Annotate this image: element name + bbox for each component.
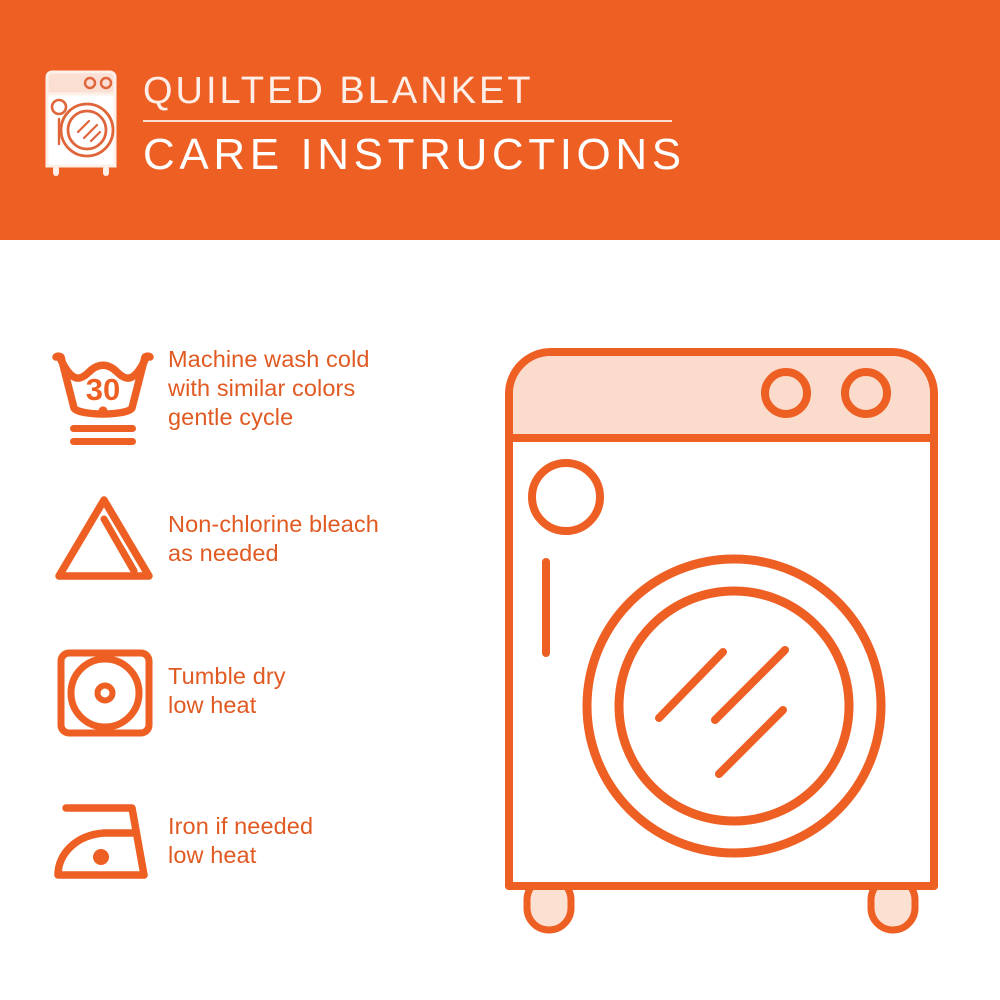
care-item-iron: Iron if needed low heat [48,792,478,892]
care-line: gentle cycle [168,403,370,432]
care-item-tumble-dry: Tumble dry low heat [48,640,478,744]
page-title-primary: QUILTED BLANKET [143,68,703,114]
care-line: Machine wash cold [168,345,370,374]
care-item-machine-wash: 30 Machine wash cold with similar colors… [48,345,478,453]
care-line: Non-chlorine bleach [168,510,379,539]
care-item-bleach: Non-chlorine bleach as needed [48,488,478,588]
care-item-text-tumble-dry: Tumble dry low heat [168,640,286,720]
tumble-dry-low-heat-icon [48,640,168,744]
care-instructions-page: QUILTED BLANKET CARE INSTRUCTIONS 30 [0,0,1000,1000]
header-banner: QUILTED BLANKET CARE INSTRUCTIONS [0,0,1000,240]
care-item-text-iron: Iron if needed low heat [168,792,313,870]
svg-text:30: 30 [86,372,120,407]
washing-machine-icon [44,66,118,178]
care-line: as needed [168,539,379,568]
title-divider [143,120,672,122]
care-instruction-list: 30 Machine wash cold with similar colors… [0,240,500,1000]
care-line: with similar colors [168,374,370,403]
care-item-text-machine-wash: Machine wash cold with similar colors ge… [168,345,370,432]
page-title-secondary: CARE INSTRUCTIONS [143,129,703,181]
care-line: Tumble dry [168,662,286,691]
care-line: low heat [168,691,286,720]
front-load-washing-machine-illustration [487,330,957,940]
title-block: QUILTED BLANKET CARE INSTRUCTIONS [143,68,703,181]
iron-low-heat-icon [48,792,168,892]
care-line: low heat [168,841,313,870]
care-item-text-bleach: Non-chlorine bleach as needed [168,488,379,568]
non-chlorine-bleach-triangle-icon [48,488,168,588]
care-line: Iron if needed [168,812,313,841]
wash-tub-30-icon: 30 [48,345,168,453]
